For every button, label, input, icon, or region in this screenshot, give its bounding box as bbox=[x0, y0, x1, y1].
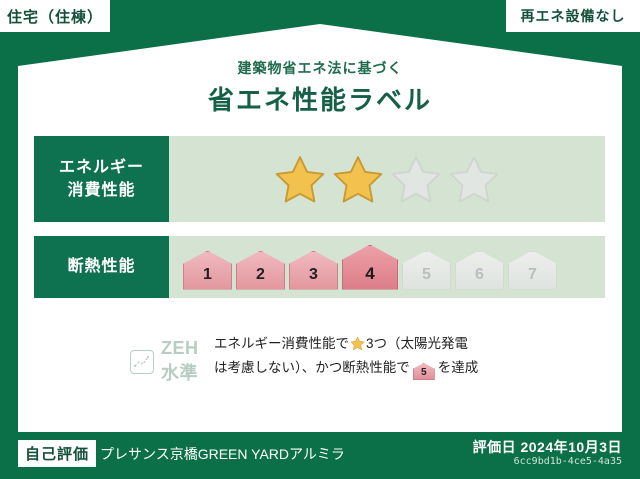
building-name: プレサンス京橋GREEN YARDアルミラ bbox=[100, 444, 345, 464]
star-rating bbox=[274, 154, 500, 204]
renewable-equipment-tag: 再エネ設備なし bbox=[506, 0, 640, 32]
footer: 自己評価 プレサンス京橋GREEN YARDアルミラ 評価日 2024年10月3… bbox=[0, 432, 640, 479]
zeh-section: ZEH水準 エネルギー消費性能で 3つ（太陽光発電 は考慮しない）、かつ断熱性能… bbox=[34, 330, 605, 385]
desc-part3: を達成 bbox=[438, 360, 479, 375]
energy-label-line2: 消費性能 bbox=[67, 179, 135, 202]
star-icon-empty bbox=[390, 154, 442, 204]
desc-part2: は考慮しない）、かつ断熱性能で bbox=[214, 360, 410, 375]
self-evaluation-badge: 自己評価 bbox=[18, 440, 96, 467]
zeh-mark-label: ZEH水準 bbox=[161, 338, 214, 385]
star-icon-filled bbox=[332, 154, 384, 204]
desc-part1: エネルギー消費性能で bbox=[214, 336, 349, 351]
star-icon-inline bbox=[350, 336, 365, 351]
insulation-level-6: 6 bbox=[455, 251, 504, 290]
insulation-label-text: 断熱性能 bbox=[67, 255, 135, 278]
desc-star-count: 3つ（太陽光発電 bbox=[366, 336, 468, 351]
zeh-mark: ZEH水準 bbox=[34, 330, 214, 385]
zeh-description: エネルギー消費性能で 3つ（太陽光発電 は考慮しない）、かつ断熱性能で5を達成 bbox=[214, 330, 605, 380]
insulation-level-1: 1 bbox=[183, 251, 232, 290]
evaluation-date: 評価日 2024年10月3日 bbox=[473, 437, 622, 457]
subtitle-law: 建築物省エネ法に基づく bbox=[0, 58, 640, 78]
insulation-performance-value: 1234567 bbox=[169, 236, 605, 298]
insulation-level-7: 7 bbox=[508, 251, 557, 290]
chart-line-icon bbox=[130, 350, 154, 374]
insulation-level-3: 3 bbox=[289, 251, 338, 290]
insulation-performance-row: 断熱性能 1234567 bbox=[34, 236, 605, 298]
star-icon-filled bbox=[274, 154, 326, 204]
insulation-level-4: 4 bbox=[342, 245, 398, 290]
housing-type-tag: 住宅（住棟） bbox=[0, 0, 110, 32]
evaluation-id: 6cc9bd1b-4ce5-4a35 bbox=[514, 456, 622, 467]
energy-label-line1: エネルギー bbox=[59, 156, 144, 179]
energy-performance-row: エネルギー 消費性能 bbox=[34, 136, 605, 222]
insulation-level-badges: 1234567 bbox=[183, 245, 557, 290]
insulation-performance-label: 断熱性能 bbox=[34, 236, 169, 298]
page-title: 省エネ性能ラベル bbox=[0, 80, 640, 117]
insulation-badge-inline: 5 bbox=[413, 363, 435, 380]
star-icon-empty bbox=[448, 154, 500, 204]
energy-performance-label: エネルギー 消費性能 bbox=[34, 136, 169, 222]
energy-label-root: 住宅（住棟） 再エネ設備なし 建築物省エネ法に基づく 省エネ性能ラベル エネルギ… bbox=[0, 0, 640, 479]
insulation-level-2: 2 bbox=[236, 251, 285, 290]
energy-performance-value bbox=[169, 136, 605, 222]
insulation-level-5: 5 bbox=[402, 251, 451, 290]
